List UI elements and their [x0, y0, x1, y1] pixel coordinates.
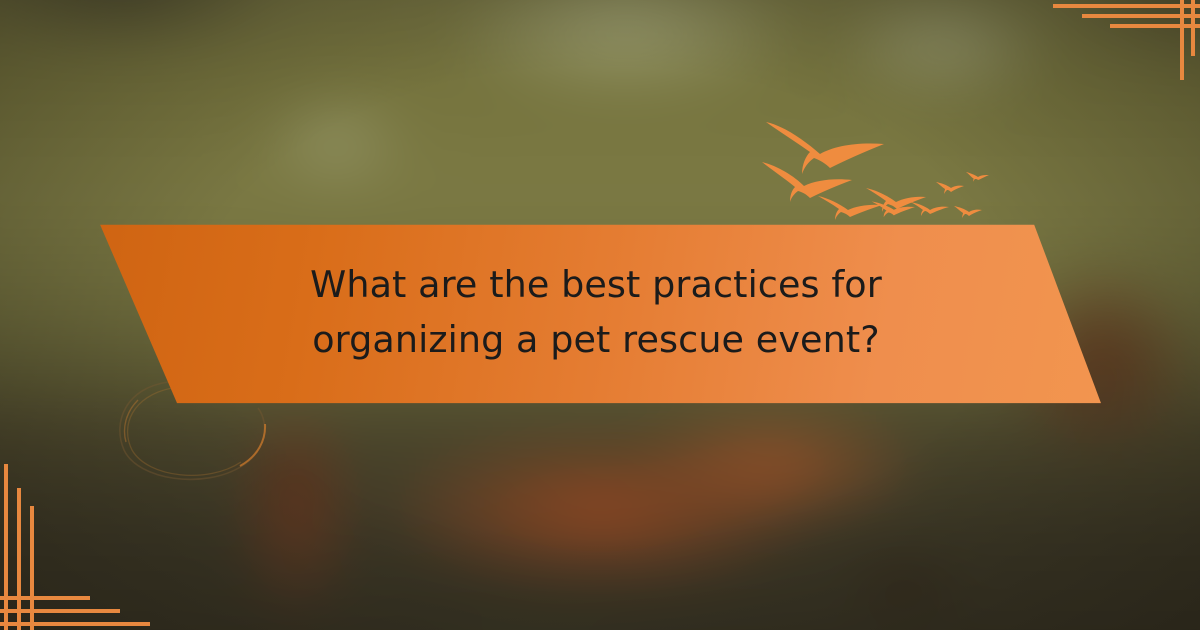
- corner-ornament-bottom-left: [0, 455, 200, 630]
- birds-flock-icon: [760, 110, 990, 230]
- corner-line-h1: [1053, 4, 1200, 8]
- corner-line-h2: [0, 609, 120, 613]
- corner-line-v2: [1191, 0, 1195, 56]
- question-card: What are the best practices for organizi…: [0, 0, 1200, 630]
- corner-line-v1: [4, 464, 8, 630]
- corner-line-v1: [1180, 0, 1184, 80]
- corner-ornament-top-right: [1040, 0, 1200, 80]
- corner-line-h1: [0, 596, 90, 600]
- corner-line-h3: [0, 622, 150, 626]
- corner-line-h3: [1110, 24, 1200, 28]
- question-banner: What are the best practices for organizi…: [90, 222, 1102, 404]
- question-text: What are the best practices for organizi…: [216, 257, 976, 369]
